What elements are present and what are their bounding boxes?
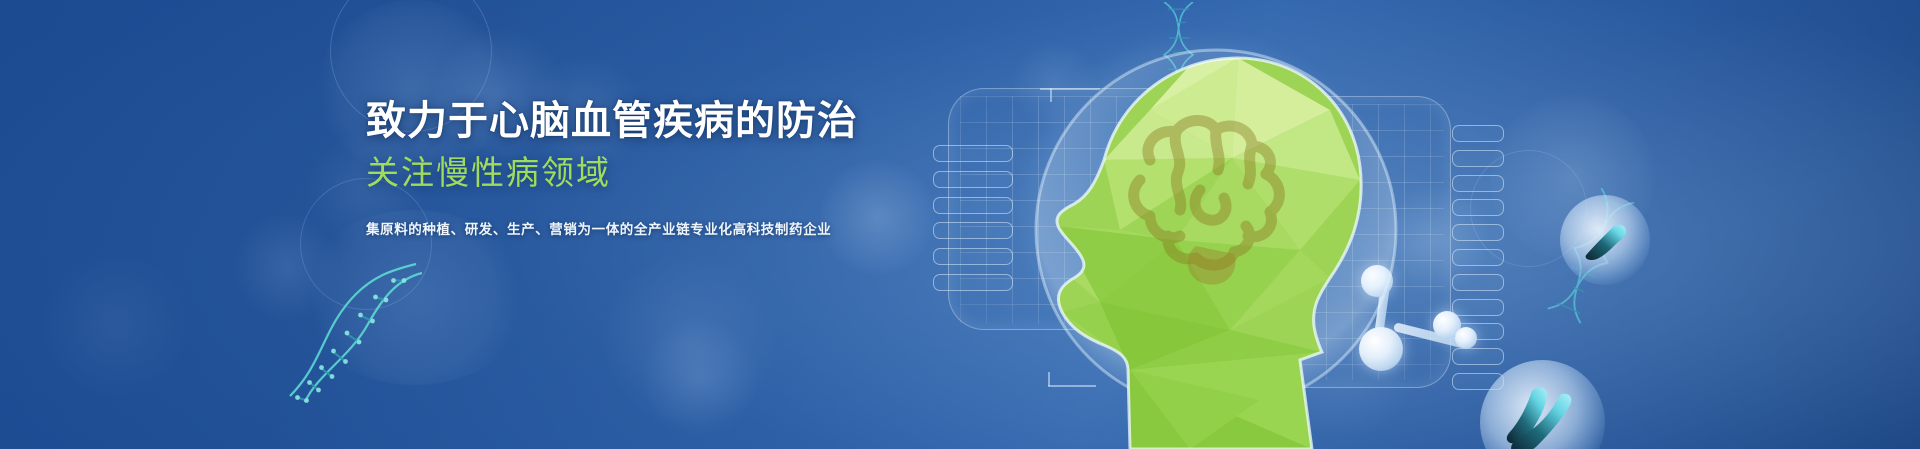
rod-chromosome-icon	[1578, 218, 1634, 262]
bokeh-circle	[600, 250, 780, 430]
page-tagline: 集原料的种植、研发、生产、营销为一体的全产业链专业化高科技制药企业	[366, 220, 1126, 240]
banner-copy: 致力于心脑血管疾病的防治 关注慢性病领域 集原料的种植、研发、生产、营销为一体的…	[366, 96, 1126, 240]
hero-banner: 致力于心脑血管疾病的防治 关注慢性病领域 集原料的种植、研发、生产、营销为一体的…	[0, 0, 1920, 449]
page-title: 致力于心脑血管疾病的防治	[366, 96, 1126, 146]
x-chromosome-icon	[1498, 385, 1594, 449]
page-subtitle: 关注慢性病领域	[366, 152, 1126, 194]
bokeh-circle	[40, 250, 190, 400]
dna-helix-icon	[278, 258, 428, 408]
bokeh-circle	[640, 318, 760, 438]
